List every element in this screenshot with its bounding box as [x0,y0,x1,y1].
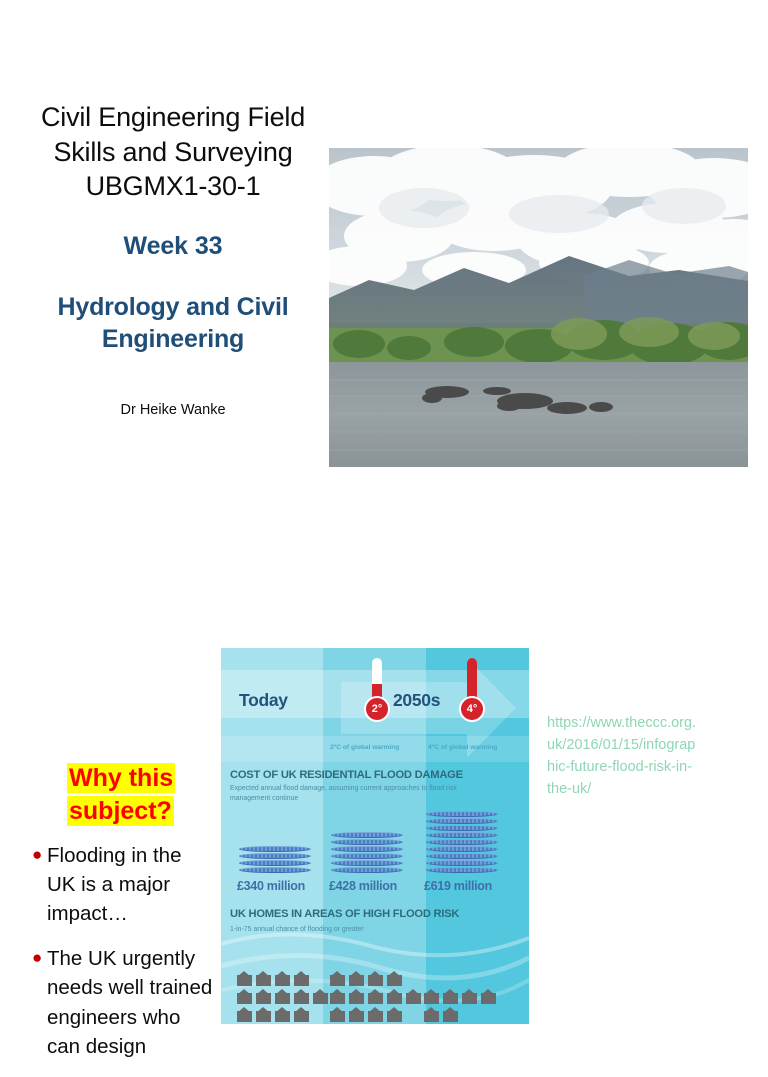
house-icon [387,989,402,1004]
house-icon [481,989,496,1004]
warming-caption-4c: 4°C of global warming [428,744,497,751]
why-this-subject-heading: Why this subject? [67,762,217,828]
house-icon [330,971,345,986]
source-url-link[interactable]: https://www.theccc.org.uk/2016/01/15/inf… [547,712,697,800]
house-row [330,989,421,1004]
house-row [237,989,328,1004]
house-icon [349,1007,364,1022]
cost-value-today: £340 million [237,879,305,893]
river-landscape-photo [329,148,748,467]
house-row [424,989,496,1004]
coin [426,853,498,859]
homes-section-heading: UK HOMES IN AREAS OF HIGH FLOOD RISK [230,908,459,920]
future-label: 2050s [393,690,440,711]
house-group-4c [424,989,496,1022]
coin [331,860,403,866]
coin [331,832,403,838]
course-title-line-1: Civil Engineering Field [18,100,328,135]
house-icon [256,989,271,1004]
cost-and-homes-section: COST OF UK RESIDENTIAL FLOOD DAMAGE Expe… [221,763,529,1024]
course-title-line-2: Skills and Surveying [18,135,328,170]
list-item: ● The UK urgently needs well trained eng… [30,944,215,1060]
list-item: ● Flooding in the UK is a major impact… [30,841,215,928]
house-icon [368,1007,383,1022]
house-icon [424,1007,439,1022]
house-icon [237,989,252,1004]
house-icon [256,971,271,986]
coin [331,839,403,845]
why-bullet-list: ● Flooding in the UK is a major impact… … [30,841,215,1077]
house-row [424,1007,496,1022]
homes-section-subheading: 1-in-75 annual chance of flooding or gre… [230,926,364,933]
bullet-marker-icon: ● [32,944,42,971]
house-icon [330,989,345,1004]
coin [426,811,498,817]
topic-label: Hydrology and Civil Engineering [18,291,328,356]
house-row [237,1007,328,1022]
coin [239,846,311,852]
cost-section-subheading: Expected annual flood damage, assuming c… [230,784,465,804]
thermometer-value: 2° [364,696,390,722]
house-row [330,1007,421,1022]
house-icon [349,971,364,986]
week-label: Week 33 [18,232,328,261]
author-name: Dr Heike Wanke [18,402,328,418]
coin [331,867,403,873]
house-icon [275,989,290,1004]
house-row [330,971,421,986]
house-icon [406,989,421,1004]
house-icon [330,1007,345,1022]
coin [426,867,498,873]
house-icon [387,1007,402,1022]
title-block: Civil Engineering Field Skills and Surve… [18,100,328,418]
bullet-text: Flooding in the UK is a major impact… [47,844,181,925]
topic-line-1: Hydrology and Civil [18,291,328,324]
photo-illustration [329,148,748,467]
coin-stack-2c [331,832,403,874]
bullet-marker-icon: ● [32,841,42,868]
house-icon [443,1007,458,1022]
today-label: Today [239,690,288,711]
house-group-2c [330,971,421,1022]
bullet-text: The UK urgently needs well trained engin… [47,947,212,1057]
house-icon [368,971,383,986]
why-heading-text: Why this subject? [67,763,175,826]
cost-value-4c: £619 million [424,879,492,893]
house-icon [256,1007,271,1022]
house-icon [294,1007,309,1022]
coin [239,867,311,873]
topic-line-2: Engineering [18,323,328,356]
house-icon [313,989,328,1004]
house-icon [443,989,458,1004]
coin [426,818,498,824]
house-icon [387,971,402,986]
coin [426,860,498,866]
coin-stack-4c [426,811,498,874]
coin-stack-today [239,846,311,874]
house-row [237,971,328,986]
house-icon [424,989,439,1004]
house-icon [275,971,290,986]
course-title: Civil Engineering Field Skills and Surve… [18,100,328,204]
cost-value-2c: £428 million [329,879,397,893]
course-code: UBGMX1-30-1 [18,169,328,204]
flood-risk-infographic: Today 2050s 2° 4° 2°C of global warming … [221,648,529,1024]
thermometer-value: 4° [459,696,485,722]
house-icon [237,1007,252,1022]
cost-section-heading: COST OF UK RESIDENTIAL FLOOD DAMAGE [230,769,463,781]
house-icon [462,989,477,1004]
house-icon [237,971,252,986]
coin [426,846,498,852]
house-icon [275,1007,290,1022]
house-icon [368,989,383,1004]
coin [426,832,498,838]
coin [331,846,403,852]
coin [331,853,403,859]
coin [239,860,311,866]
coin [426,825,498,831]
house-icon [294,971,309,986]
coin [239,853,311,859]
house-icon [294,989,309,1004]
house-icon [349,989,364,1004]
coin [426,839,498,845]
house-group-today [237,971,328,1022]
warming-caption-2c: 2°C of global warming [330,744,399,751]
